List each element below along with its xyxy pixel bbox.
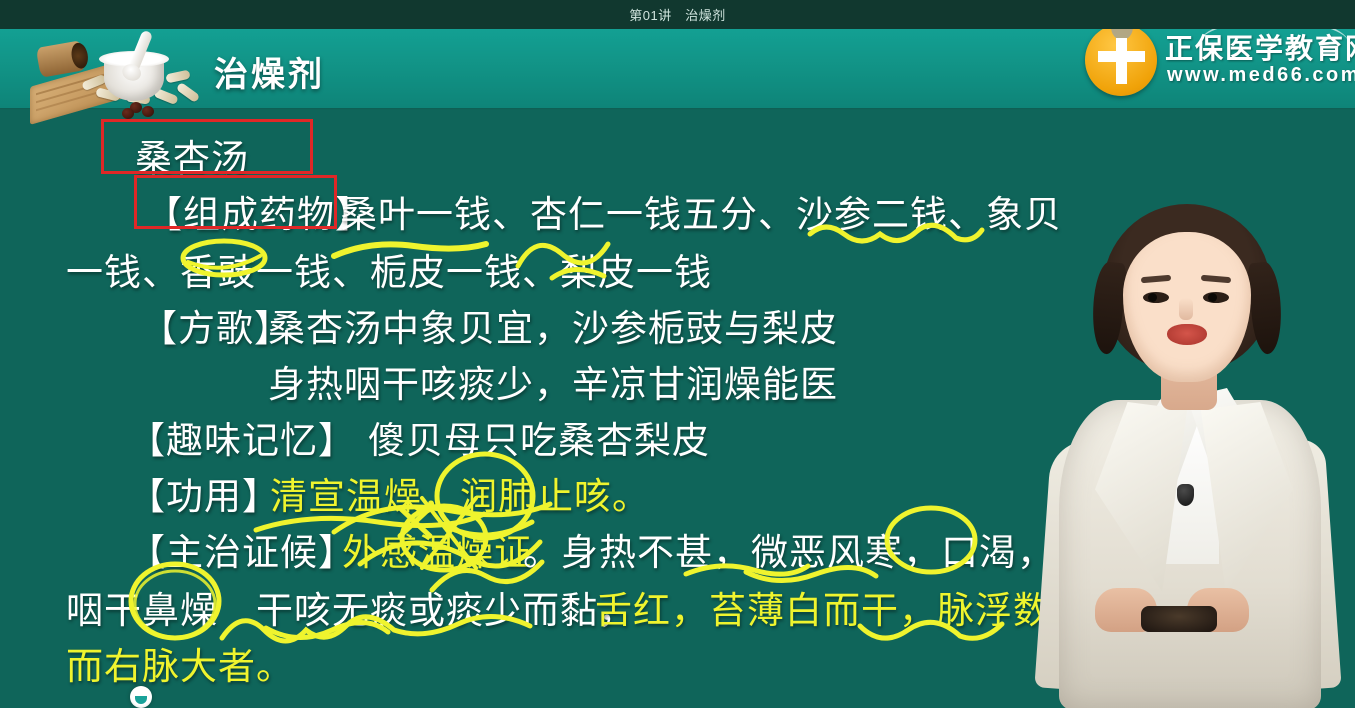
mnemonic-text: 傻贝母只吃桑杏梨皮 — [368, 410, 710, 464]
indication-text-2: 咽干鼻燥 干咳无痰或痰少而黏， — [66, 580, 636, 634]
indication-tongue-pulse: 舌红，苔薄白而干，脉浮数 — [595, 580, 1051, 634]
orange-cross-logo-icon — [1085, 24, 1157, 96]
presenter-held-object — [1141, 606, 1217, 632]
logo-website-url: www.med66.com — [1167, 64, 1355, 87]
lecture-title: 第01讲 治燥剂 — [629, 5, 725, 24]
indication-text-3: 而右脉大者。 — [66, 636, 294, 690]
video-player-stage: 第01讲 治燥剂 治燥剂 正保医学教育网 — [0, 0, 1355, 708]
composition-label-box — [134, 175, 337, 229]
banner-title: 治燥剂 — [214, 47, 325, 96]
composition-text-cont: 一钱、香豉一钱、栀皮一钱、梨皮一钱 — [66, 242, 712, 296]
presenter-nose — [1179, 298, 1193, 320]
indication-text: 。身热不甚，微恶风寒，口渴， — [523, 522, 1055, 576]
player-indicator-icon[interactable] — [130, 686, 152, 708]
composition-text: 桑叶一钱、杏仁一钱五分、沙参二钱、象贝 — [340, 184, 1062, 238]
presenter-lapel-mic — [1177, 484, 1194, 506]
site-logo: 正保医学教育网 www.med66.com — [1079, 20, 1347, 98]
indication-label: 【主治证候】 — [128, 522, 356, 576]
logo-brand-name: 正保医学教育网 — [1165, 27, 1355, 67]
presenter-video-overlay — [1037, 188, 1337, 708]
function-text: 清宣温燥，润肺止咳。 — [270, 466, 650, 520]
song-line-2: 身热咽干咳痰少，辛凉甘润燥能医 — [268, 354, 838, 408]
mnemonic-label: 【趣味记忆】 — [128, 410, 356, 464]
indication-syndrome: 外感温燥证 — [342, 522, 532, 576]
presenter-lips — [1167, 324, 1207, 345]
song-line-1: 桑杏汤中象贝宜，沙参栀豉与梨皮 — [268, 298, 838, 352]
function-label: 【功用】 — [128, 466, 280, 520]
top-title-bar: 第01讲 治燥剂 — [0, 0, 1355, 29]
mortar-and-herbs-illustration — [18, 30, 208, 108]
formula-title-box — [101, 119, 313, 174]
